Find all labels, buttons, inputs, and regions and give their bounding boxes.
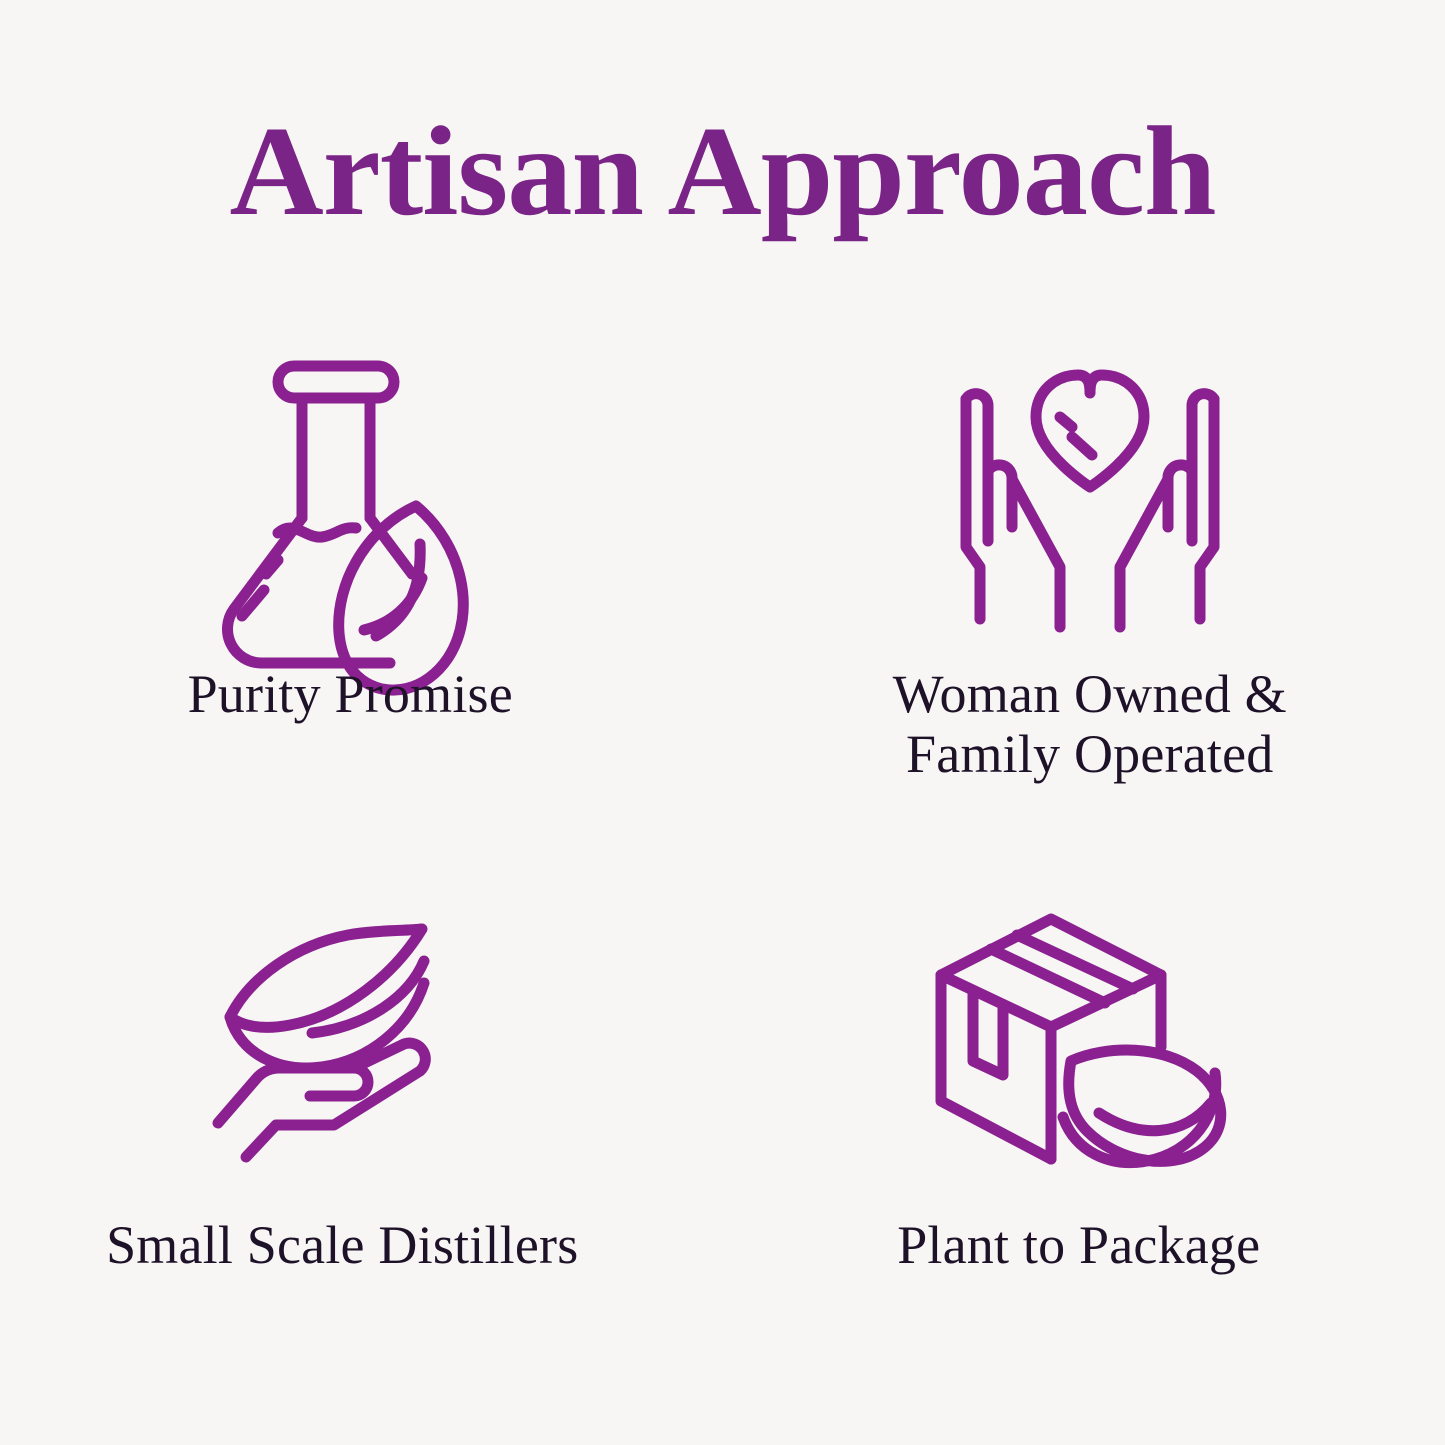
feature-label-woman-owned: Woman Owned & Family Operated: [893, 664, 1287, 785]
feature-label-purity-promise: Purity Promise: [188, 664, 513, 724]
feature-label-plant-to-package: Plant to Package: [897, 1215, 1260, 1275]
feature-plant-to-package: Plant to Package: [723, 850, 1445, 1370]
flask-leaf-icon: [200, 348, 500, 638]
feature-label-small-scale-distillers: Small Scale Distillers: [106, 1215, 578, 1275]
box-leaf-icon: [939, 905, 1219, 1175]
hands-holding-heart-icon: [940, 348, 1240, 638]
hand-holding-leaf-icon: [202, 905, 482, 1175]
feature-woman-owned: Woman Owned & Family Operated: [723, 330, 1445, 850]
artisan-approach-infographic: Artisan Approach: [0, 0, 1445, 1445]
label-line: Woman Owned &: [893, 664, 1287, 724]
feature-small-scale-distillers: Small Scale Distillers: [0, 850, 723, 1370]
page-title: Artisan Approach: [0, 104, 1445, 238]
feature-grid: Purity Promise: [0, 330, 1445, 1370]
label-line: Small Scale Distillers: [106, 1215, 578, 1275]
label-line: Family Operated: [893, 724, 1287, 784]
feature-purity-promise: Purity Promise: [0, 330, 723, 850]
label-line: Purity Promise: [188, 664, 513, 724]
label-line: Plant to Package: [897, 1215, 1260, 1275]
